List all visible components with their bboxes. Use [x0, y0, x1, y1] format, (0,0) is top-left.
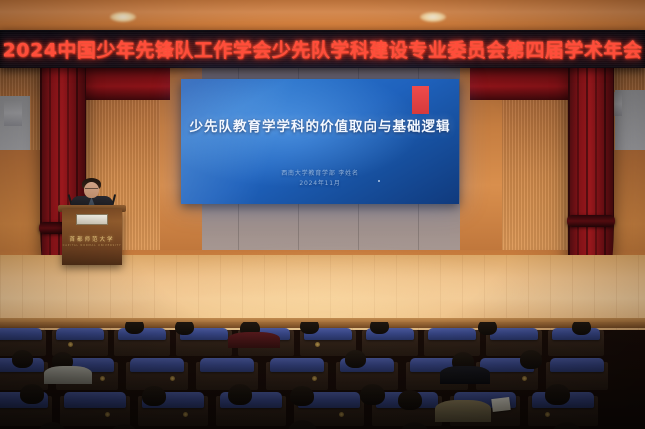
slide-subtitle-date: 2024年11月	[181, 178, 459, 187]
audience-head	[175, 322, 194, 335]
slide-accent-block	[412, 86, 429, 114]
curtain-valance-left	[78, 66, 170, 100]
audience-head	[300, 322, 319, 334]
seat-emblem-icon	[339, 412, 344, 417]
seat-row	[0, 352, 645, 388]
seat-emblem-icon	[522, 376, 527, 381]
audience-head	[125, 322, 144, 334]
audience-head	[478, 322, 497, 335]
handout-paper	[491, 397, 510, 412]
audience-head	[398, 390, 422, 410]
audience-head	[400, 422, 429, 429]
ceiling	[0, 0, 645, 34]
seat	[64, 392, 126, 408]
seat-emblem-icon	[545, 412, 550, 417]
audience-head	[110, 424, 138, 429]
audience-shoulders	[440, 366, 490, 384]
audience-head	[228, 384, 252, 405]
led-banner-text: 2024中国少年先锋队工作学会少先队学科建设专业委员会第四届学术年会	[3, 36, 643, 63]
wall-vent-left	[4, 100, 22, 126]
stage-spotlight-glow	[120, 250, 540, 320]
audience-shoulders	[228, 332, 280, 348]
audience-head	[370, 322, 389, 334]
audience-head	[360, 384, 385, 405]
seat	[0, 328, 42, 340]
audience-head	[552, 422, 582, 429]
seat-row	[0, 322, 645, 356]
slide-cursor-dot	[378, 180, 380, 182]
seat	[550, 358, 604, 372]
audience-head	[572, 322, 591, 335]
seat-emblem-icon	[170, 376, 175, 381]
seat	[56, 328, 104, 340]
speaker-glasses-icon	[85, 188, 98, 192]
audience-head	[345, 350, 366, 368]
curtain-valance-right	[470, 66, 570, 100]
seat	[130, 358, 184, 372]
projection-screen: 少先队教育学学科的价值取向与基础逻辑 西南大学教育学部 李姓名 2024年11月	[181, 79, 459, 204]
seat	[200, 358, 254, 372]
ceiling-light-icon	[110, 12, 136, 22]
seat	[270, 358, 324, 372]
audience-shoulders	[44, 366, 92, 384]
seat-emblem-icon	[315, 342, 320, 347]
audience-head	[290, 386, 314, 406]
curtain-tieback-right	[567, 215, 615, 227]
audience-head	[38, 422, 66, 429]
audience-seating	[0, 322, 645, 429]
ceiling-light-icon	[420, 12, 446, 22]
auditorium-photo: 2024中国少年先锋队工作学会少先队学科建设专业委员会第四届学术年会 少先队教育…	[0, 0, 645, 429]
audience-head	[288, 420, 317, 429]
seat-row	[0, 420, 645, 429]
podium-institution-cn: 首都师范大学	[62, 235, 122, 243]
audience-head	[520, 350, 542, 369]
audience-head	[142, 386, 166, 406]
audience-head	[545, 384, 570, 405]
seat-emblem-icon	[68, 342, 73, 347]
seat-emblem-icon	[312, 376, 317, 381]
slide-subtitle-affiliation: 西南大学教育学部 李姓名	[181, 168, 459, 177]
seat	[490, 328, 538, 340]
audience-head	[20, 384, 44, 404]
seat-emblem-icon	[105, 412, 110, 417]
podium-nameplate	[76, 214, 108, 225]
presentation-slide: 少先队教育学学科的价值取向与基础逻辑 西南大学教育学部 李姓名 2024年11月	[181, 79, 459, 204]
slide-title: 少先队教育学学科的价值取向与基础逻辑	[181, 115, 459, 135]
led-banner: 2024中国少年先锋队工作学会少先队学科建设专业委员会第四届学术年会	[0, 30, 645, 68]
seat-row	[0, 384, 645, 424]
seat-emblem-icon	[183, 412, 188, 417]
room-shell: 2024中国少年先锋队工作学会少先队学科建设专业委员会第四届学术年会 少先队教育…	[0, 0, 645, 429]
seat-emblem-icon	[100, 376, 105, 381]
podium-institution-en: CAPITAL NORMAL UNIVERSITY	[62, 244, 122, 247]
seat	[428, 328, 476, 340]
audience-shoulders	[435, 400, 491, 422]
audience-head	[12, 350, 33, 368]
